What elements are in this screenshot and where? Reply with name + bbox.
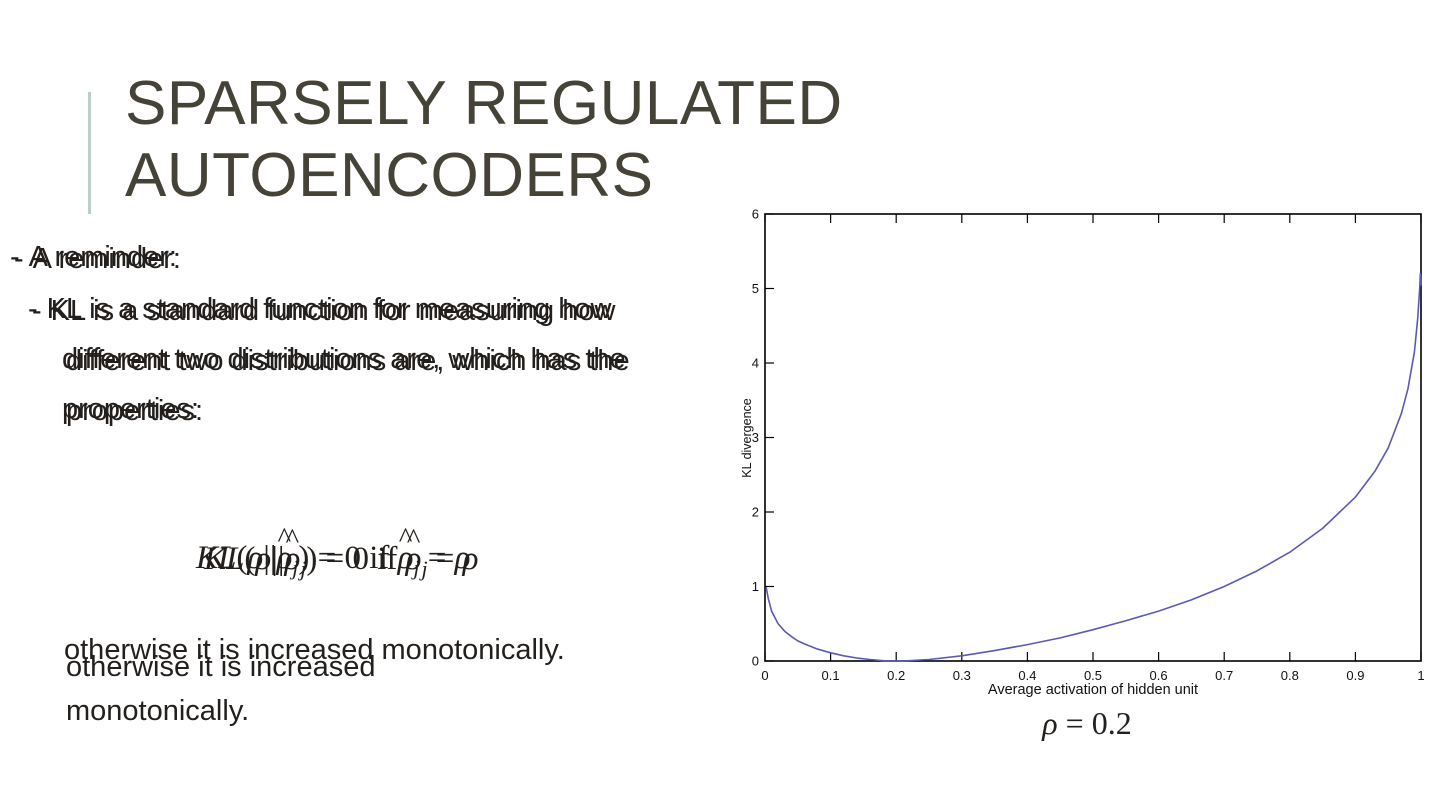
- kl-divergence-figure: 0123456 00.10.20.30.40.50.60.70.80.91 Av…: [737, 200, 1437, 780]
- rho-value-caption: ρ = 0.2: [737, 705, 1437, 742]
- formula-close-paren-ghost: ): [306, 541, 317, 577]
- page-title: SPARSELY REGULATED AUTOENCODERS: [125, 68, 985, 212]
- chart-svg: 0123456 00.10.20.30.40.50.60.70.80.91 Av…: [737, 200, 1437, 700]
- chart-xaxis-label: Average activation of hidden unit: [988, 682, 1198, 698]
- closing-text-ghost: otherwise it is increased monotonically.: [66, 645, 536, 733]
- hat-accent-icon: ^: [407, 523, 421, 556]
- x-tick-label: 0.9: [1346, 668, 1364, 683]
- kl-formula-ghost: KL(ρ||^ρj) = 0 if ^ρj = ρ: [204, 541, 479, 582]
- formula-open-paren-ghost: (: [244, 541, 255, 577]
- y-tick-label: 4: [752, 356, 759, 371]
- bullet-level1-ghost: -A reminder:: [14, 234, 704, 284]
- x-tick-label: 0.5: [1084, 668, 1102, 683]
- chart-plot-area: 0123456 00.10.20.30.40.50.60.70.80.91 Av…: [737, 200, 1437, 700]
- bullet-level1-label-ghost: A reminder:: [33, 243, 181, 275]
- y-tick-label: 2: [752, 505, 759, 520]
- bullet-level2-label-ghost: KL is a standard function for measuring …: [51, 295, 630, 427]
- title-block: SPARSELY REGULATED AUTOENCODERS: [88, 88, 728, 224]
- x-tick-label: 0.6: [1150, 668, 1168, 683]
- x-tick-label: 0.3: [953, 668, 971, 683]
- bullet-level2-ghost: -KL is a standard function for measuring…: [14, 286, 686, 436]
- x-tick-label: 0.7: [1215, 668, 1233, 683]
- formula-rho-hat-ghost: ^ρ: [284, 541, 300, 578]
- dash-bullet-icon: -: [14, 243, 24, 275]
- formula-subscript-j-2-ghost: j: [421, 557, 427, 581]
- title-accent-bar: [88, 92, 91, 214]
- formula-equals-zero-ghost: = 0 if: [326, 541, 398, 577]
- dash-bullet-icon: -: [32, 295, 42, 327]
- formula-rho-2-ghost: ρ: [463, 541, 479, 577]
- x-tick-label: 0.8: [1281, 668, 1299, 683]
- x-tick-label: 0: [761, 668, 768, 683]
- formula-rho-hat-2-ghost: ^ρ: [406, 541, 422, 578]
- x-tick-label: 1: [1417, 668, 1424, 683]
- chart-yaxis-label: KL divergence: [740, 398, 754, 477]
- x-tick-label: 0.1: [822, 668, 840, 683]
- formula-bars-ghost: ||: [271, 541, 284, 577]
- x-tick-label: 0.2: [887, 668, 905, 683]
- y-tick-label: 5: [752, 281, 759, 296]
- y-tick-label: 6: [752, 207, 759, 222]
- formula-kl-label-ghost: KL: [204, 541, 244, 577]
- y-tick-label: 0: [752, 654, 759, 669]
- y-tick-label: 1: [752, 579, 759, 594]
- rho-value: = 0.2: [1066, 705, 1132, 741]
- x-tick-label: 0.4: [1018, 668, 1036, 683]
- rho-symbol: ρ: [1042, 705, 1057, 741]
- hat-accent-icon: ^: [286, 523, 300, 556]
- formula-equals-ghost: =: [436, 541, 455, 577]
- formula-rho-ghost: ρ: [255, 541, 271, 577]
- chart-axes-frame: [765, 214, 1421, 661]
- body-text-layer-ghost: -A reminder: -KL is a standard function …: [14, 234, 704, 436]
